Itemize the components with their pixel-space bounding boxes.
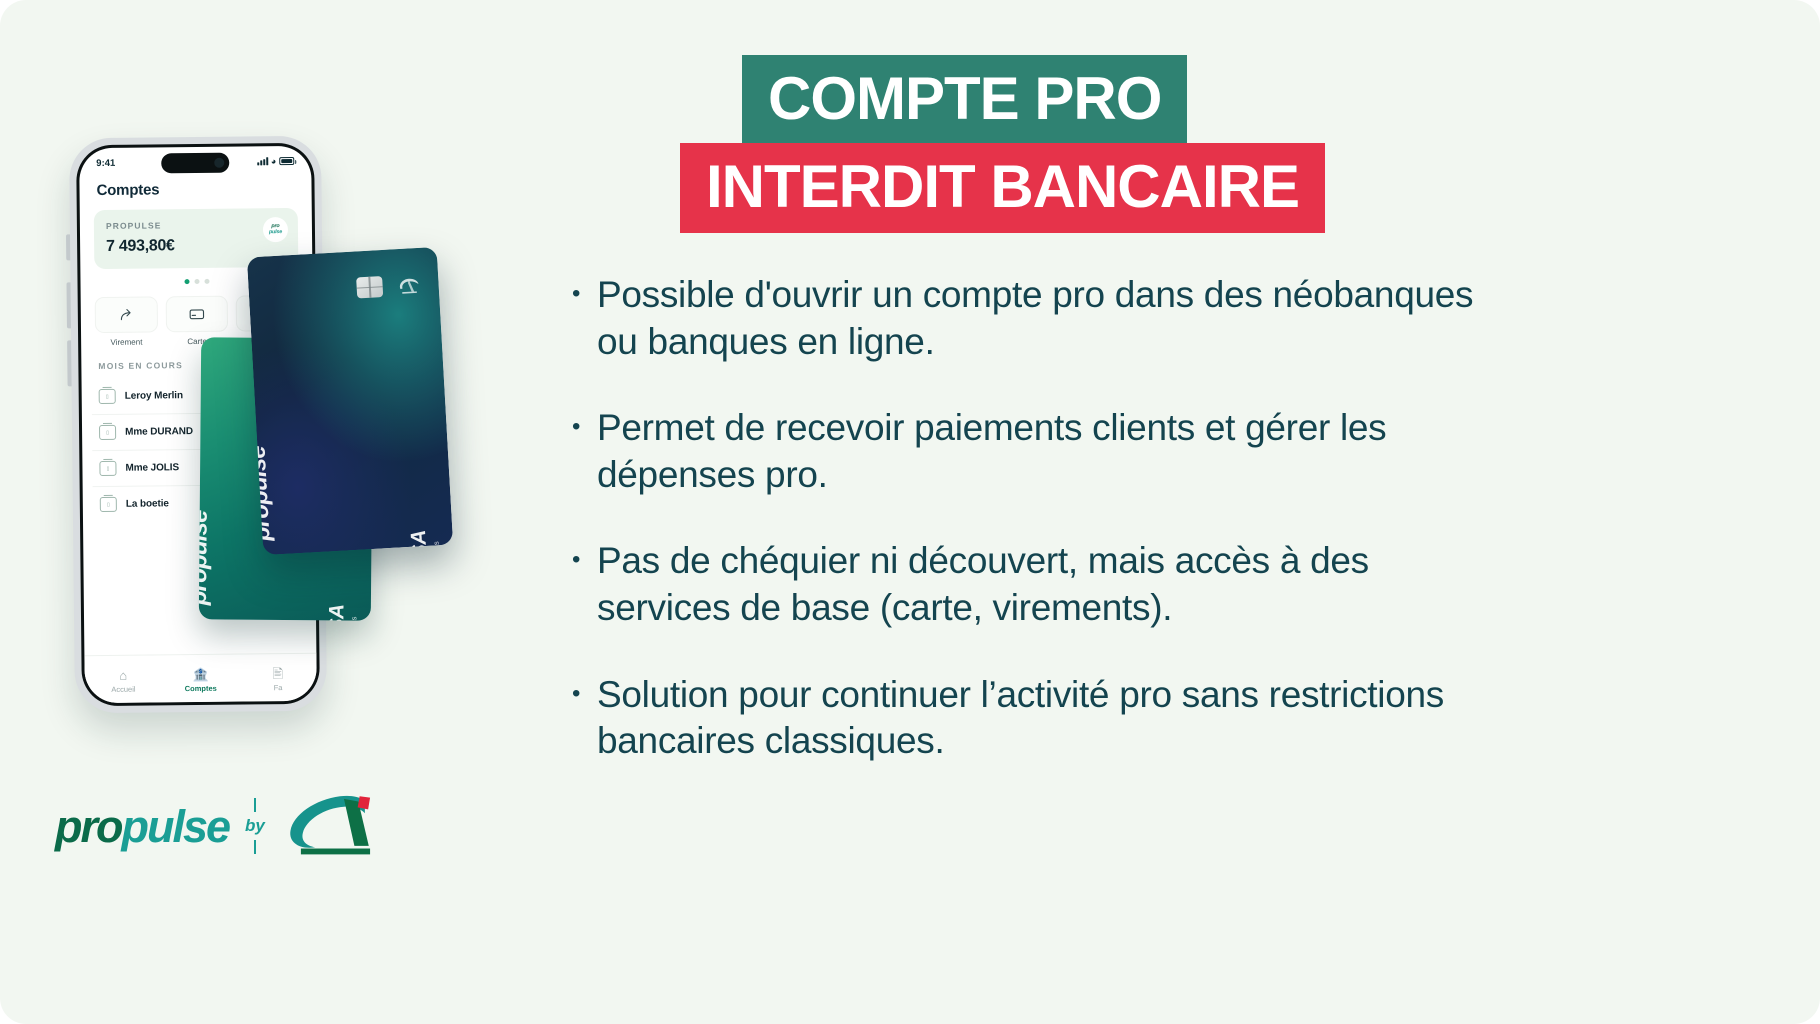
receipt-up-icon: ▯ [99, 389, 116, 404]
headline-line-2: INTERDIT BANCAIRE [680, 143, 1325, 233]
receipt-up-icon: ▯ [100, 497, 117, 512]
battery-icon [279, 157, 294, 165]
dynamic-island [161, 153, 229, 174]
receipt-down-icon: ▯ [99, 425, 116, 440]
wordmark-pro: pro [55, 801, 122, 852]
transaction-name: Mme DURAND [125, 426, 193, 438]
tab-comptes[interactable]: 🏦 Comptes [162, 668, 240, 694]
bank-card-dark: propulse VISA Business [247, 247, 453, 555]
phone-volume-down-button [67, 340, 71, 386]
chip-icon [356, 276, 383, 298]
bullet-marker: • [572, 294, 580, 365]
visa-logo: VISA Business [327, 604, 359, 620]
headline-block: COMPTE PRO INTERDIT BANCAIRE [680, 55, 1820, 233]
phone-silent-switch [66, 234, 70, 260]
bullet-text: Possible d'ouvrir un compte pro dans des… [597, 272, 1497, 365]
page-title: Comptes [79, 176, 311, 199]
divider-bottom [254, 840, 256, 854]
bottom-tab-bar: ⌂ Accueil 🏦 Comptes 🖹 Fa [84, 653, 316, 703]
right-content-panel: COMPTE PRO INTERDIT BANCAIRE • Possible … [560, 0, 1820, 1024]
bullet-text: Permet de recevoir paiements clients et … [597, 405, 1497, 498]
transaction-name: La boetie [126, 498, 169, 509]
wordmark-pulse: pulse [122, 801, 230, 852]
invoice-icon: 🖹 [273, 667, 284, 680]
tab-label: Accueil [111, 685, 135, 694]
list-item: • Solution pour continuer l’activité pro… [560, 672, 1560, 765]
visa-wordmark: VISA [408, 530, 432, 555]
propulse-wordmark: propulse [55, 804, 229, 849]
propulse-badge-icon: pro pulse [263, 217, 288, 242]
phone-volume-up-button [67, 282, 71, 328]
bullet-marker: • [572, 694, 580, 765]
status-indicators: ◕ [257, 156, 295, 165]
front-camera-icon [214, 158, 224, 168]
visa-business-text: Business [349, 605, 358, 621]
carousel-dot-3[interactable] [204, 279, 209, 284]
balance-amount: 7 493,80€ [106, 236, 286, 256]
balance-account-label: PROPULSE [106, 219, 286, 231]
cellular-bars-icon [257, 157, 268, 165]
tab-factures[interactable]: 🖹 Fa [239, 667, 317, 693]
by-separator: by [245, 798, 265, 854]
credit-agricole-logo-icon [281, 795, 373, 857]
status-bar: 9:41 ◕ [79, 146, 311, 178]
brand-lockup: propulse by [55, 795, 373, 857]
bullet-text: Pas de chéquier ni découvert, mais accès… [597, 538, 1497, 631]
divider-top [254, 798, 256, 812]
infographic-slide: 9:41 ◕ Comptes PROPUL [0, 0, 1820, 1024]
credit-card-icon [165, 296, 228, 333]
badge-pulse-text: pulse [269, 230, 282, 236]
status-time: 9:41 [96, 157, 115, 168]
list-item: • Pas de chéquier ni découvert, mais acc… [560, 538, 1560, 631]
carousel-dot-2[interactable] [194, 279, 199, 284]
by-text: by [245, 816, 265, 836]
visa-logo: VISA Business [408, 529, 443, 555]
bullet-text: Solution pour continuer l’activité pro s… [597, 672, 1497, 765]
tab-label: Comptes [185, 684, 217, 693]
home-icon: ⌂ [119, 669, 127, 682]
left-visual-panel: 9:41 ◕ Comptes PROPUL [0, 0, 560, 1024]
card-brand-text: propulse [199, 510, 214, 605]
receipt-down-icon: ▯ [99, 461, 116, 476]
arrow-transfer-icon [95, 296, 158, 333]
list-item: • Possible d'ouvrir un compte pro dans d… [560, 272, 1560, 365]
quick-action-label: Virement [110, 338, 142, 347]
bullet-list: • Possible d'ouvrir un compte pro dans d… [560, 272, 1560, 765]
carousel-dot-1[interactable] [184, 279, 189, 284]
bullet-marker: • [572, 427, 580, 498]
ca-logo-icon [395, 272, 422, 299]
quick-action-virement[interactable]: Virement [95, 296, 158, 347]
bank-icon: 🏦 [192, 668, 208, 681]
list-item: • Permet de recevoir paiements clients e… [560, 405, 1560, 498]
visa-wordmark: VISA [327, 604, 348, 620]
transaction-name: Mme JOLIS [125, 462, 179, 474]
bullet-marker: • [572, 560, 580, 631]
wifi-icon: ◕ [271, 157, 277, 166]
headline-line-1: COMPTE PRO [742, 55, 1187, 145]
transaction-name: Leroy Merlin [125, 390, 183, 402]
tab-label: Fa [274, 683, 283, 692]
visa-business-text: Business [431, 529, 443, 555]
tab-accueil[interactable]: ⌂ Accueil [85, 668, 163, 694]
